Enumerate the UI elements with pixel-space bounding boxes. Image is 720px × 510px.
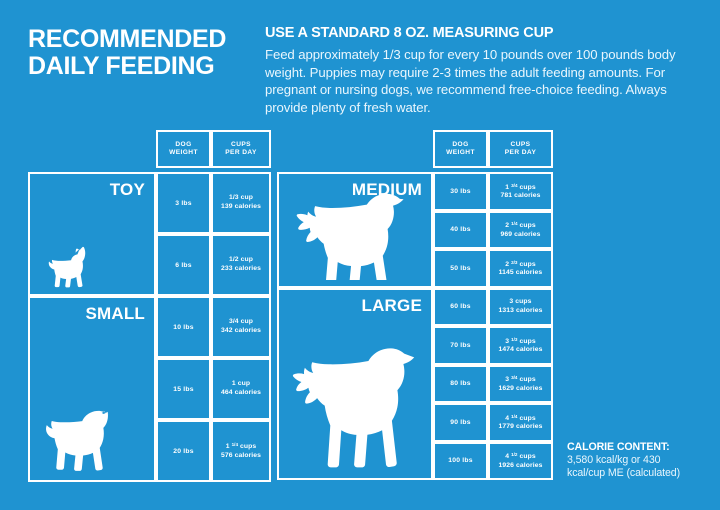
right-row-cups: 3 cups1313 calories: [488, 288, 553, 327]
right-table-cups-header: CUPSPER DAY: [488, 130, 553, 168]
calorie-content-heading: CALORIE CONTENT:: [567, 441, 715, 454]
calorie-content-line-1: 3,580 kcal/kg or 430: [567, 454, 660, 466]
header: RECOMMENDED DAILY FEEDING USE A STANDARD…: [0, 0, 720, 122]
left-row-weight: 15 lbs: [156, 358, 211, 420]
left-row-cups: 3/4 cup342 calories: [211, 296, 271, 358]
chihuahua-silhouette: [40, 246, 89, 288]
calorie-content-block: CALORIE CONTENT: 3,580 kcal/kg or 430 kc…: [567, 441, 715, 479]
left-table-weight-header: DOGWEIGHT: [156, 130, 211, 168]
right-row-weight: 60 lbs: [433, 288, 488, 327]
left-row-cups: 1/2 cup233 calories: [211, 234, 271, 296]
right-row-cups: 3 1/3 cups1474 calories: [488, 326, 553, 365]
great-dane-silhouette: [289, 346, 429, 472]
right-row-cups: 4 1/4 cups1779 calories: [488, 403, 553, 442]
category-label-small: SMALL: [85, 304, 145, 324]
category-panel-large: LARGE: [277, 288, 433, 481]
category-panel-medium: MEDIUM: [277, 172, 433, 288]
intro-body-text: Feed approximately 1/3 cup for every 10 …: [265, 46, 705, 116]
retriever-silhouette: [289, 190, 422, 279]
left-row-weight: 10 lbs: [156, 296, 211, 358]
right-row-weight: 100 lbs: [433, 442, 488, 481]
page-title-line-2: DAILY FEEDING: [28, 53, 253, 80]
right-row-cups: 3 3/4 cups1629 calories: [488, 365, 553, 404]
right-row-weight: 70 lbs: [433, 326, 488, 365]
right-row-weight: 30 lbs: [433, 172, 488, 211]
intro-heading: USE A STANDARD 8 OZ. MEASURING CUP: [265, 24, 705, 42]
right-row-cups: 4 1/2 cups1926 calories: [488, 442, 553, 481]
left-row-weight: 6 lbs: [156, 234, 211, 296]
left-row-weight: 3 lbs: [156, 172, 211, 234]
right-row-cups: 1 3/4 cups781 calories: [488, 172, 553, 211]
category-panel-small: SMALL: [28, 296, 156, 482]
right-row-weight: 90 lbs: [433, 403, 488, 442]
right-table-weight-header: DOGWEIGHT: [433, 130, 488, 168]
right-row-cups: 2 2/3 cups1145 calories: [488, 249, 553, 288]
feeding-chart-board: DOGWEIGHTCUPSPER DAYDOGWEIGHTCUPSPER DAY…: [28, 130, 563, 478]
beagle-silhouette: [40, 408, 126, 474]
left-row-cups: 1 cup464 calories: [211, 358, 271, 420]
left-row-cups: 1 1/4 cups576 calories: [211, 420, 271, 482]
calorie-content-line-2: kcal/cup ME (calculated): [567, 467, 680, 479]
category-label-toy: TOY: [110, 180, 145, 200]
page-title-line-1: RECOMMENDED: [28, 26, 253, 53]
category-label-large: LARGE: [362, 296, 423, 316]
intro-block: USE A STANDARD 8 OZ. MEASURING CUP Feed …: [265, 24, 705, 116]
right-row-weight: 80 lbs: [433, 365, 488, 404]
right-row-cups: 2 1/4 cups969 calories: [488, 211, 553, 250]
left-row-weight: 20 lbs: [156, 420, 211, 482]
right-row-weight: 40 lbs: [433, 211, 488, 250]
category-panel-toy: TOY: [28, 172, 156, 296]
calorie-content-body: 3,580 kcal/kg or 430 kcal/cup ME (calcul…: [567, 454, 715, 479]
right-row-weight: 50 lbs: [433, 249, 488, 288]
page-title: RECOMMENDED DAILY FEEDING: [28, 26, 253, 80]
left-row-cups: 1/3 cup139 calories: [211, 172, 271, 234]
left-table-cups-header: CUPSPER DAY: [211, 130, 271, 168]
